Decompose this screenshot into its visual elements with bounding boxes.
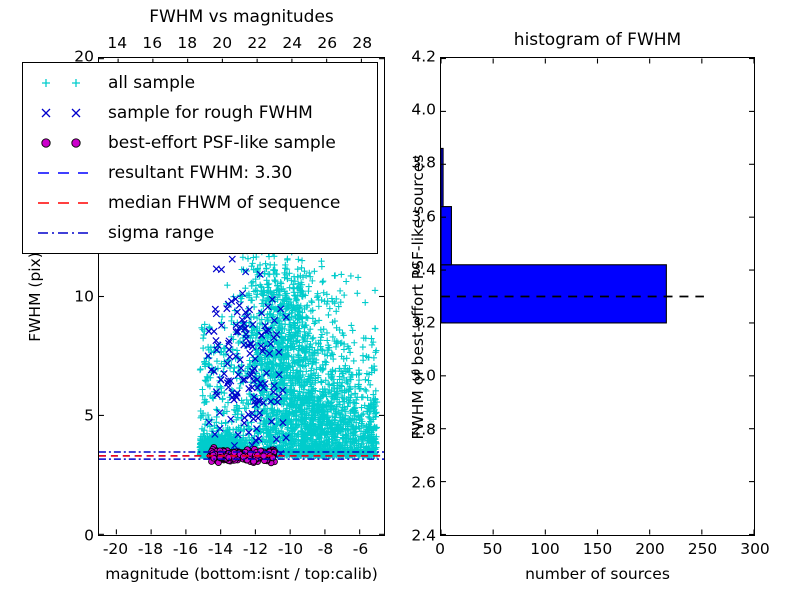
histogram-canvas: [441, 58, 754, 535]
histogram-xtick: 50: [483, 542, 503, 558]
scatter-plot-title: FWHM vs magnitudes: [149, 7, 334, 27]
scatter-xtick-bottom: -18: [138, 542, 163, 558]
scatter-ytick: 5: [68, 409, 94, 425]
scatter-xtick-bottom: -12: [243, 542, 268, 558]
figure-canvas: FWHM vs magnitudes magnitude (bottom:isn…: [0, 0, 800, 600]
dashed-line-icon: [30, 160, 108, 186]
legend-item-label: median FHWM of sequence: [108, 195, 340, 212]
scatter-xtick-top: 16: [142, 36, 162, 52]
histogram-xtick: 0: [435, 542, 445, 558]
scatter-xtick-top: 24: [282, 36, 302, 52]
legend-item[interactable]: resultant FWHM: 3.30: [30, 158, 368, 188]
scatter-ytick: 10: [68, 289, 94, 305]
dot-marker-icon: [30, 130, 108, 156]
scatter-xtick-bottom: -10: [278, 542, 303, 558]
histogram-xtick: 250: [688, 542, 718, 558]
plot-legend: all samplesample for rough FWHMbest-effo…: [22, 62, 378, 254]
cross-marker-icon: [30, 100, 108, 126]
scatter-xtick-bottom: -14: [208, 542, 233, 558]
histogram-title: histogram of FWHM: [514, 30, 681, 50]
histogram-ytick: 4.2: [401, 49, 436, 65]
histogram-xtick: 200: [635, 542, 665, 558]
histogram-ytick: 3.8: [401, 156, 436, 172]
legend-item[interactable]: best-effort PSF-like sample: [30, 128, 368, 158]
scatter-xtick-bottom: -6: [353, 542, 368, 558]
scatter-xtick-top: 26: [317, 36, 337, 52]
legend-item-label: sigma range: [108, 225, 214, 242]
histogram-xtick: 150: [583, 542, 613, 558]
histogram-ytick: 2.6: [401, 475, 436, 491]
histogram-xlabel: number of sources: [525, 565, 670, 583]
dashed-line-icon: [30, 190, 108, 216]
legend-item-label: all sample: [108, 75, 195, 92]
plus-marker-icon: [30, 70, 108, 96]
scatter-xtick-top: 14: [107, 36, 127, 52]
scatter-xtick-top: 18: [177, 36, 197, 52]
histogram-ytick: 3.4: [401, 262, 436, 278]
scatter-xtick-top: 22: [247, 36, 267, 52]
histogram-ytick: 3.2: [401, 315, 436, 331]
legend-item-label: sample for rough FWHM: [108, 105, 313, 122]
legend-item[interactable]: sigma range: [30, 218, 368, 248]
histogram-ytick: 2.8: [401, 422, 436, 438]
histogram-ytick: 4.0: [401, 102, 436, 118]
scatter-xtick-bottom: -8: [318, 542, 333, 558]
scatter-plot-xlabel: magnitude (bottom:isnt / top:calib): [105, 565, 378, 583]
histogram-xtick: 300: [740, 542, 770, 558]
scatter-xtick-bottom: -20: [103, 542, 128, 558]
scatter-ytick: 0: [68, 528, 94, 544]
legend-item[interactable]: median FHWM of sequence: [30, 188, 368, 218]
histogram-ytick: 3.0: [401, 369, 436, 385]
histogram-xtick: 100: [530, 542, 560, 558]
scatter-xtick-top: 20: [212, 36, 232, 52]
legend-item[interactable]: sample for rough FWHM: [30, 98, 368, 128]
scatter-xtick-bottom: -16: [173, 542, 198, 558]
dashdot-line-icon: [30, 220, 108, 246]
legend-item[interactable]: all sample: [30, 68, 368, 98]
histogram-axes: [440, 57, 755, 536]
histogram-ytick: 3.6: [401, 209, 436, 225]
histogram-ylabel: FWHM of best-effort PSF-like sources: [409, 154, 427, 439]
histogram-ytick: 2.4: [401, 528, 436, 544]
legend-item-label: best-effort PSF-like sample: [108, 135, 336, 152]
scatter-plot-ylabel: FWHM (pix): [26, 252, 44, 342]
legend-item-label: resultant FWHM: 3.30: [108, 165, 292, 182]
scatter-xtick-top: 28: [352, 36, 372, 52]
